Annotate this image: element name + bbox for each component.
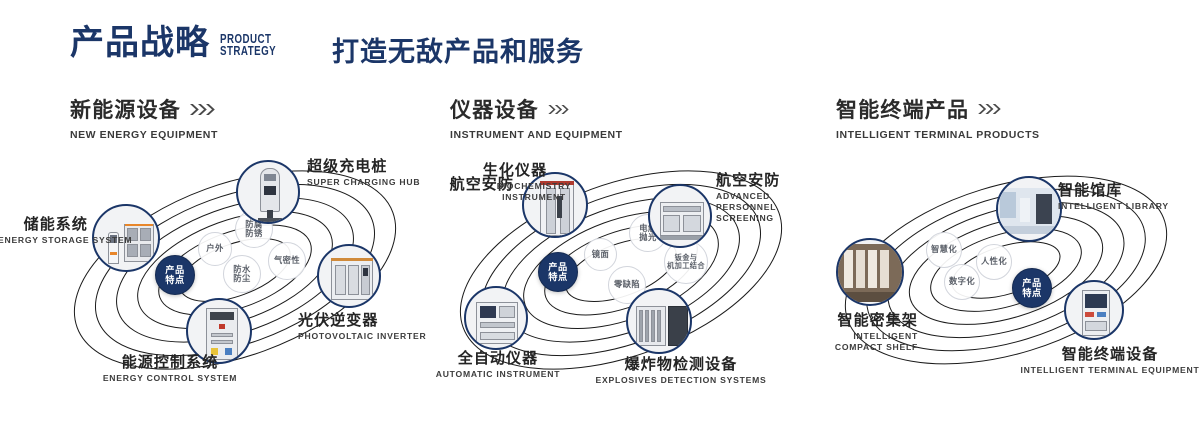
feature-bubble-waterproof: 防水 防尘 <box>223 255 261 293</box>
product-label-en: BIOCHEMISTRY INSTRUMENT <box>488 181 580 202</box>
product-label-cn: 全自动仪器 <box>418 350 578 367</box>
chevron-right-triple-icon <box>190 104 216 115</box>
cluster-intelligent-terminal: 智慧化 人性化 数字化 产品 特点 智能馆库 INTELLIGENT LIBRA… <box>816 160 1200 400</box>
feature-bubble-line1: 智慧化 <box>931 245 957 254</box>
product-label-photovoltaic-inverter: 光伏逆变器 PHOTOVOLTAIC INVERTER <box>298 312 426 342</box>
product-label-cn: 航空安防 <box>716 172 812 189</box>
feature-bubble-digitized: 数字化 <box>944 264 980 300</box>
product-label-explosives-detection: 爆炸物检测设备 EXPLOSIVES DETECTION SYSTEMS <box>586 356 776 386</box>
cluster-instrument: 产品 特点 镜面 电解 抛光 钣金与 机加工结合 零缺陷 <box>426 150 816 400</box>
product-label-cn: 储能系统 <box>0 216 88 233</box>
feature-badge-center: 产品 特点 <box>538 252 578 292</box>
page-title-en-line1: PRODUCT <box>220 33 276 46</box>
product-node-screening-machine[interactable] <box>648 184 712 248</box>
product-label-en: ENERGY STORAGE SYSTEM <box>0 235 88 246</box>
feature-badge-line1: 产品 <box>165 265 185 275</box>
library-room-image <box>998 178 1060 240</box>
product-label-cn: 超级充电桩 <box>307 158 420 175</box>
product-node-intelligent-terminal-equipment[interactable] <box>1064 280 1124 340</box>
product-label-cn: 能源控制系统 <box>80 354 260 371</box>
analyzer-image <box>466 288 526 348</box>
chevron-right-triple-icon <box>978 104 1002 114</box>
inverter-cabinet-image <box>319 246 379 306</box>
feature-bubble-line1: 户外 <box>206 244 223 253</box>
feature-badge-line1: 产品 <box>548 262 568 272</box>
feature-bubble-line1: 气密性 <box>274 256 300 265</box>
section-title-en: INSTRUMENT AND EQUIPMENT <box>450 129 623 141</box>
product-node-intelligent-library[interactable] <box>996 176 1062 242</box>
product-label-energy-control-system: 能源控制系统 ENERGY CONTROL SYSTEM <box>80 354 260 384</box>
product-node-automatic-instrument[interactable] <box>464 286 528 350</box>
compact-shelf-image <box>838 240 902 304</box>
product-label-energy-storage: 储能系统 ENERGY STORAGE SYSTEM <box>0 216 88 246</box>
product-strategy-infographic: 产品战略 PRODUCT STRATEGY 打造无敌产品和服务 新能源设备 NE… <box>0 0 1200 422</box>
section-title-cn: 智能终端产品 <box>836 94 969 124</box>
product-label-cn: 智能密集架 <box>718 312 918 329</box>
product-label-en: ENERGY CONTROL SYSTEM <box>80 373 260 384</box>
product-label-en: INTELLIGENT COMPACT SHELF <box>816 331 918 352</box>
feature-bubble-smart: 智慧化 <box>926 232 962 268</box>
product-label-en: INTELLIGENT LIBRARY <box>1058 201 1169 212</box>
section-title-row: 新能源设备 <box>70 94 218 124</box>
page-title: 产品战略 <box>70 26 210 60</box>
page-slogan: 打造无敌产品和服务 <box>332 30 584 69</box>
product-label-biochemistry-instrument: 生化仪器 BIOCHEMISTRY INSTRUMENT <box>450 162 580 203</box>
section-title-cn: 新能源设备 <box>70 94 181 124</box>
feature-bubble-line1: 数字化 <box>949 277 975 286</box>
product-node-photovoltaic-inverter[interactable] <box>317 244 381 308</box>
section-title-row: 智能终端产品 <box>836 94 1040 124</box>
detection-rack-image <box>628 290 690 352</box>
product-label-en: AUTOMATIC INSTRUMENT <box>418 369 578 380</box>
product-label-intelligent-library: 智能馆库 INTELLIGENT LIBRARY <box>1058 182 1169 212</box>
product-label-en: EXPLOSIVES DETECTION SYSTEMS <box>586 375 776 386</box>
feature-badge-line1: 产品 <box>1022 278 1042 288</box>
section-title-en: INTELLIGENT TERMINAL PRODUCTS <box>836 129 1040 141</box>
page-header: 产品战略 PRODUCT STRATEGY 打造无敌产品和服务 <box>70 26 292 60</box>
control-cabinet-image <box>188 300 250 362</box>
product-label-en: PHOTOVOLTAIC INVERTER <box>298 331 426 342</box>
feature-badge-line2: 特点 <box>165 275 185 285</box>
section-title-row: 仪器设备 <box>450 94 623 124</box>
feature-badge-line2: 特点 <box>548 272 568 282</box>
product-label-cn: 智能终端设备 <box>1010 346 1200 363</box>
product-label-cn: 智能馆库 <box>1058 182 1169 199</box>
product-label-cn: 爆炸物检测设备 <box>586 356 776 373</box>
feature-bubble-line2: 防尘 <box>233 274 250 283</box>
screening-machine-image <box>650 186 710 246</box>
page-title-en-line2: STRATEGY <box>220 45 276 58</box>
section-title-en: NEW ENERGY EQUIPMENT <box>70 129 218 141</box>
feature-badge-line2: 特点 <box>1022 288 1042 298</box>
product-label-automatic-instrument: 全自动仪器 AUTOMATIC INSTRUMENT <box>418 350 578 380</box>
feature-badge-center: 产品 特点 <box>155 255 195 295</box>
cluster-new-energy: 产品 特点 户外 防腐 防锈 气密性 防水 防尘 <box>40 150 430 400</box>
product-label-advanced-personnel-screening: 航空安防 ADVANCED PERSONNEL SCREENING <box>716 172 812 223</box>
feature-bubble-line2: 机加工结合 <box>667 262 705 270</box>
feature-bubble-airtightness: 气密性 <box>268 242 306 280</box>
section-title-cn: 仪器设备 <box>450 94 539 124</box>
product-label-en: INTELLIGENT TERMINAL EQUIPMENT <box>1010 365 1200 376</box>
feature-bubble-line1: 零缺陷 <box>614 280 640 289</box>
feature-bubble-line2: 防锈 <box>245 229 262 238</box>
page-title-en: PRODUCT STRATEGY <box>220 33 276 61</box>
chevron-right-triple-icon <box>548 105 570 114</box>
product-label-en: ADVANCED PERSONNEL SCREENING <box>716 191 812 223</box>
feature-bubble-mirror: 镜面 <box>584 238 617 271</box>
charging-pile-image <box>238 162 298 222</box>
product-node-super-charging-hub[interactable] <box>236 160 300 224</box>
feature-bubble-humanized: 人性化 <box>976 244 1012 280</box>
product-label-cn: 光伏逆变器 <box>298 312 426 329</box>
product-label-intelligent-compact-shelf: 智能密集架 INTELLIGENT COMPACT SHELF <box>718 312 918 353</box>
feature-badge-center: 产品 特点 <box>1012 268 1052 308</box>
title-row: 产品战略 PRODUCT STRATEGY <box>70 26 292 60</box>
product-label-intelligent-terminal-equipment: 智能终端设备 INTELLIGENT TERMINAL EQUIPMENT <box>1010 346 1200 376</box>
feature-bubble-line1: 人性化 <box>981 257 1007 266</box>
section-header-new-energy: 新能源设备 NEW ENERGY EQUIPMENT <box>70 94 218 141</box>
feature-bubble-line1: 镜面 <box>592 250 609 259</box>
section-header-instrument: 仪器设备 INSTRUMENT AND EQUIPMENT <box>450 94 623 141</box>
product-node-explosives-detection[interactable] <box>626 288 692 354</box>
kiosk-image <box>1066 282 1122 338</box>
product-node-intelligent-compact-shelf[interactable] <box>836 238 904 306</box>
product-label-cn: 生化仪器 <box>450 162 580 179</box>
section-header-intelligent-terminal: 智能终端产品 INTELLIGENT TERMINAL PRODUCTS <box>836 94 1040 141</box>
